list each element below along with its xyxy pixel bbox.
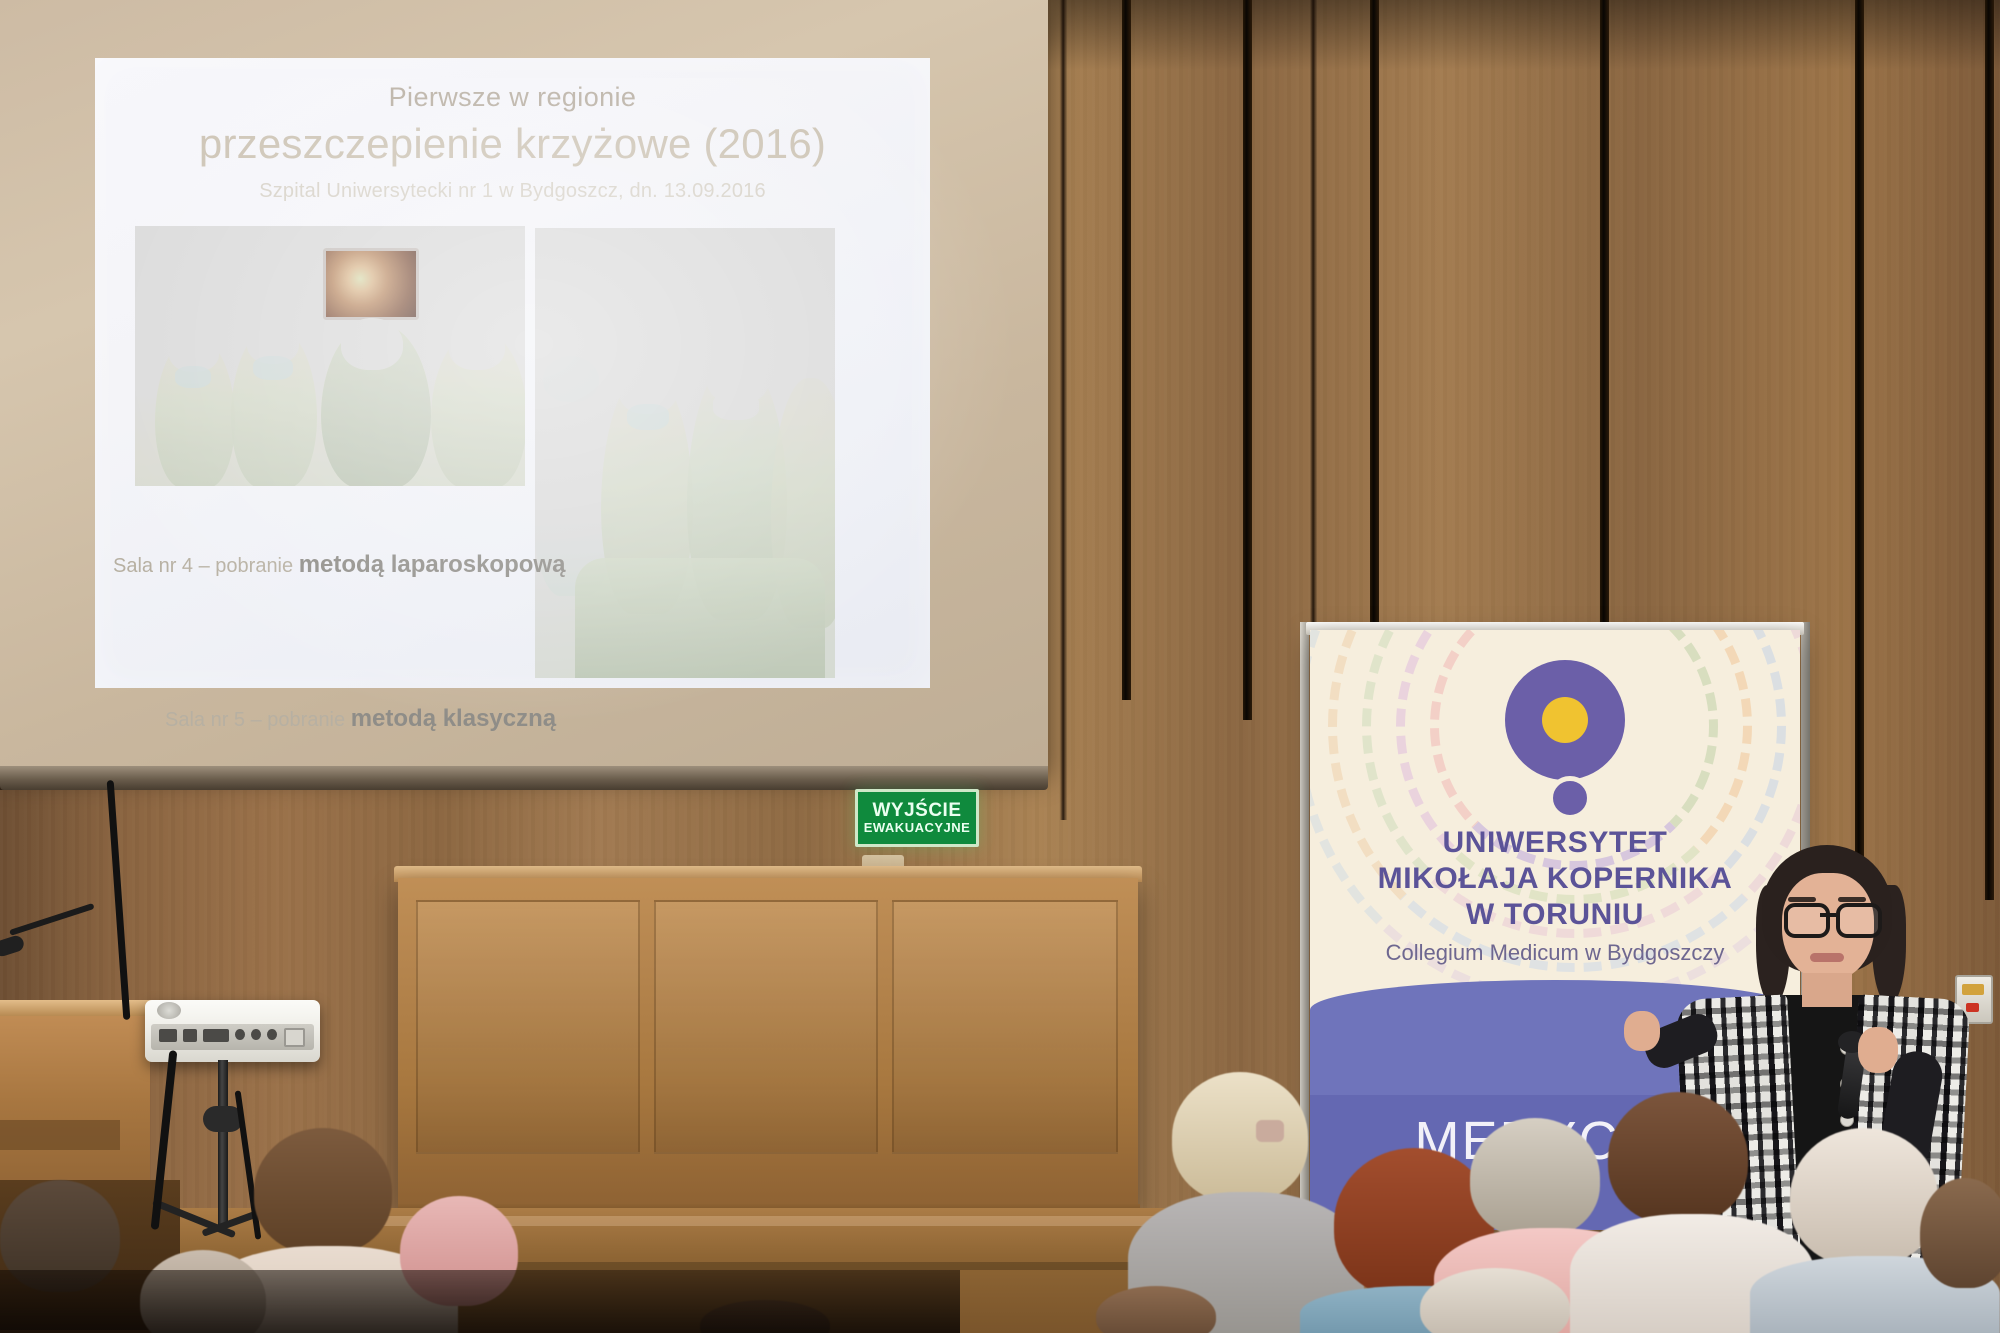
audience-head — [254, 1128, 392, 1254]
wall-strip — [1855, 0, 1864, 900]
slide-photo-classic — [535, 228, 835, 678]
projector-lan-port — [284, 1028, 305, 1047]
university-logo-inner-dot — [1542, 697, 1588, 743]
caption-lead: Sala nr 5 – pobranie — [165, 709, 351, 731]
audience-head — [1470, 1118, 1600, 1238]
eyeglasses-bridge — [1820, 913, 1836, 917]
caption-strong: metodą klasyczną — [351, 705, 556, 732]
screen-roller-bar — [0, 766, 1048, 790]
slide-subtitle: Szpital Uniwersytecki nr 1 w Bydgoszcz, … — [95, 180, 930, 203]
lecture-hall-scene: Pierwsze w regionie przeszczepienie krzy… — [0, 0, 2000, 1333]
slide-kicker: Pierwsze w regionie — [95, 82, 930, 113]
presenter-right-hand — [1858, 1027, 1898, 1073]
podium-panel — [416, 900, 640, 1154]
audience-head — [1608, 1092, 1748, 1224]
audience-head — [1790, 1128, 1938, 1266]
wall-strip — [1370, 0, 1379, 640]
eyeglasses-right-lens — [1836, 903, 1882, 938]
presenter-mouth — [1810, 953, 1844, 962]
audience-head — [1172, 1072, 1308, 1202]
wall-seam — [1060, 0, 1067, 820]
foreground-shadow — [0, 1270, 960, 1333]
wall-strip — [1243, 0, 1252, 720]
eyeglasses-left-lens — [1784, 903, 1830, 938]
projector-tripod-column — [218, 1060, 228, 1225]
side-desk-top — [0, 1000, 160, 1016]
slide-title: przeszczepienie krzyżowe (2016) — [95, 120, 930, 168]
exit-sign-line2: EWAKUACYJNE — [864, 821, 971, 835]
university-logo-small-circle — [1548, 776, 1592, 820]
podium-panel — [892, 900, 1118, 1154]
projector-lens — [157, 1002, 181, 1019]
caption-lead: Sala nr 4 – pobranie — [113, 555, 299, 577]
hair-clip — [1256, 1120, 1284, 1142]
presenter-neck — [1802, 973, 1852, 1007]
slide-caption-laparoscopic: Sala nr 4 – pobranie metodą laparoskopow… — [95, 551, 948, 579]
slide-photo-laparoscopic — [135, 226, 525, 486]
slide-caption-classic: Sala nr 5 – pobranie metodą klasyczną — [95, 705, 1000, 733]
audience-head — [1920, 1178, 2000, 1288]
wall-strip — [1122, 0, 1131, 700]
side-desk-shadow — [0, 1120, 120, 1150]
caption-strong: metodą laparoskopową — [299, 551, 566, 578]
projector-port-panel — [151, 1024, 314, 1050]
wall-strip — [1985, 0, 1994, 900]
projected-slide: Pierwsze w regionie przeszczepienie krzy… — [95, 58, 930, 688]
podium-panel — [654, 900, 878, 1154]
wall-strip — [1600, 0, 1609, 640]
exit-sign-line1: WYJŚCIE — [872, 801, 961, 821]
emergency-exit-sign: WYJŚCIE EWAKUACYJNE — [855, 789, 979, 847]
presenter-left-hand — [1624, 1011, 1660, 1051]
projection-screen: Pierwsze w regionie przeszczepienie krzy… — [0, 0, 1050, 790]
laparoscopy-monitor — [323, 248, 419, 320]
podium — [398, 878, 1138, 1208]
